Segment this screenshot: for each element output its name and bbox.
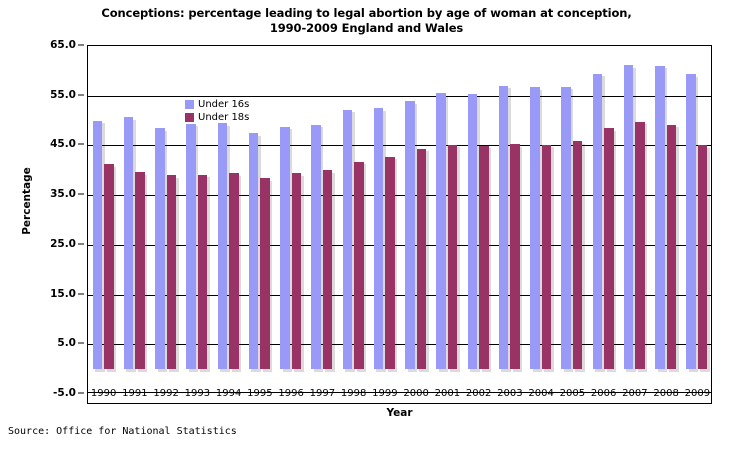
bars-layer: [88, 46, 711, 392]
x-tick-label-1996: 1996: [278, 388, 303, 399]
bar-under-18s-2003[interactable]: [510, 144, 520, 369]
x-tick-label-2004: 2004: [528, 388, 553, 399]
x-tick-label-2000: 2000: [403, 388, 428, 399]
x-tick-label-1992: 1992: [153, 388, 178, 399]
y-tick-label: 35.0: [50, 188, 76, 200]
bar-under-18s-1993[interactable]: [198, 175, 208, 369]
bar-under-18s-1997[interactable]: [323, 170, 333, 369]
plot-area: Under 16sUnder 18s: [87, 45, 712, 393]
bar-under-18s-1994[interactable]: [229, 173, 239, 369]
y-tick-label: 65.0: [50, 39, 76, 51]
bar-under-16s-1999[interactable]: [374, 108, 384, 369]
bar-under-18s-1990[interactable]: [104, 164, 114, 369]
y-tick-mark: [78, 144, 84, 145]
bar-under-16s-2009[interactable]: [686, 74, 696, 369]
bar-under-18s-1996[interactable]: [292, 173, 302, 369]
bar-under-18s-1991[interactable]: [135, 172, 145, 369]
x-tick-label-1993: 1993: [185, 388, 210, 399]
bar-under-18s-1992[interactable]: [167, 175, 177, 369]
x-axis-title: Year: [87, 407, 712, 419]
y-axis-title: Percentage: [21, 156, 33, 246]
bar-under-18s-2000[interactable]: [417, 149, 427, 369]
x-tick-label-1995: 1995: [247, 388, 272, 399]
legend-label: Under 16s: [198, 98, 249, 111]
chart-title-line1: Conceptions: percentage leading to legal…: [101, 6, 631, 20]
bar-under-18s-1998[interactable]: [354, 162, 364, 369]
legend-item-under-18s[interactable]: Under 18s: [185, 111, 249, 124]
legend-swatch-icon: [185, 100, 194, 109]
x-tick-label-1998: 1998: [341, 388, 366, 399]
x-tick-label-2002: 2002: [466, 388, 491, 399]
x-tick-label-1990: 1990: [91, 388, 116, 399]
x-tick-label-2003: 2003: [497, 388, 522, 399]
legend-label: Under 18s: [198, 111, 249, 124]
chart-legend: Under 16sUnder 18s: [185, 98, 249, 124]
y-tick-mark: [78, 194, 84, 195]
bar-under-18s-2002[interactable]: [479, 146, 489, 369]
y-axis: 65.055.045.035.025.015.05.0-5.0: [40, 45, 84, 393]
chart-title: Conceptions: percentage leading to legal…: [0, 6, 733, 36]
bar-under-18s-2001[interactable]: [448, 145, 458, 369]
bar-under-16s-1993[interactable]: [186, 124, 196, 370]
bar-under-16s-2000[interactable]: [405, 101, 415, 369]
bar-under-16s-1990[interactable]: [93, 121, 103, 370]
bar-under-16s-2005[interactable]: [561, 87, 571, 369]
bar-under-16s-2002[interactable]: [468, 94, 478, 369]
bar-under-16s-1998[interactable]: [343, 110, 353, 370]
bar-under-16s-2001[interactable]: [436, 93, 446, 369]
bar-under-16s-2006[interactable]: [593, 74, 603, 369]
y-tick-mark: [78, 45, 84, 46]
legend-item-under-16s[interactable]: Under 16s: [185, 98, 249, 111]
bar-under-16s-1994[interactable]: [218, 123, 228, 369]
y-tick-mark: [78, 243, 84, 244]
bar-under-16s-2004[interactable]: [530, 87, 540, 369]
bar-under-16s-1995[interactable]: [249, 133, 259, 369]
bar-under-18s-2008[interactable]: [667, 125, 677, 370]
source-note: Source: Office for National Statistics: [8, 426, 237, 437]
x-tick-label-1994: 1994: [216, 388, 241, 399]
bar-under-16s-1992[interactable]: [155, 128, 165, 369]
bar-under-18s-2009[interactable]: [698, 145, 708, 369]
x-tick-label-2001: 2001: [435, 388, 460, 399]
bar-under-16s-1997[interactable]: [311, 125, 321, 370]
x-tick-label-2008: 2008: [653, 388, 678, 399]
x-tick-label-1999: 1999: [372, 388, 397, 399]
bar-under-18s-1999[interactable]: [385, 157, 395, 369]
bar-under-18s-1995[interactable]: [260, 178, 270, 369]
x-tick-label-1991: 1991: [122, 388, 147, 399]
x-tick-label-1997: 1997: [310, 388, 335, 399]
y-tick-mark: [78, 343, 84, 344]
y-tick-label: 25.0: [50, 238, 76, 250]
bar-under-18s-2005[interactable]: [573, 141, 583, 369]
y-tick-mark: [78, 293, 84, 294]
legend-swatch-icon: [185, 113, 194, 122]
x-axis: 1990199119921993199419951996199719981999…: [87, 386, 712, 404]
bar-under-16s-1996[interactable]: [280, 127, 290, 370]
bar-under-18s-2007[interactable]: [635, 122, 645, 370]
y-tick-label: -5.0: [53, 387, 76, 399]
y-tick-mark: [78, 94, 84, 95]
bar-under-18s-2004[interactable]: [542, 145, 552, 369]
bar-under-16s-2007[interactable]: [624, 65, 634, 369]
y-tick-label: 45.0: [50, 138, 76, 150]
x-tick-label-2005: 2005: [560, 388, 585, 399]
bar-under-18s-2006[interactable]: [604, 128, 614, 369]
y-tick-label: 15.0: [50, 288, 76, 300]
bar-under-16s-2003[interactable]: [499, 86, 509, 369]
bar-under-16s-1991[interactable]: [124, 117, 134, 369]
x-tick-label-2009: 2009: [685, 388, 710, 399]
chart-title-line2: 1990-2009 England and Wales: [0, 21, 733, 36]
y-tick-label: 55.0: [50, 89, 76, 101]
x-tick-label-2006: 2006: [591, 388, 616, 399]
y-tick-label: 5.0: [57, 337, 76, 349]
x-tick-label-2007: 2007: [622, 388, 647, 399]
y-tick-mark: [78, 393, 84, 394]
bar-under-16s-2008[interactable]: [655, 66, 665, 369]
